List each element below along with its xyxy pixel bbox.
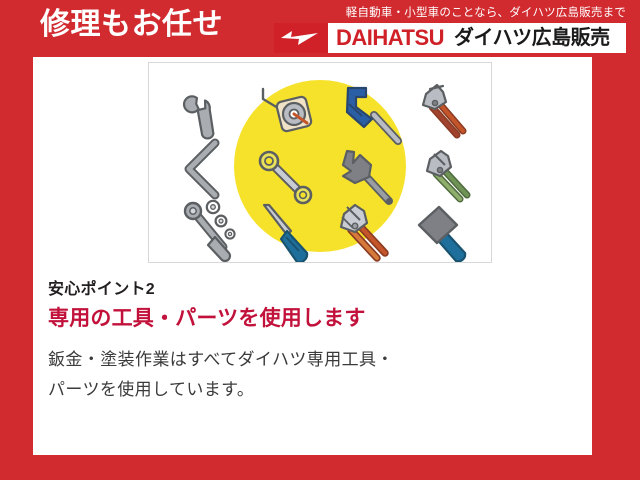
text-block: 安心ポイント2 専用の工具・パーツを使用します 鈑金・塗装作業はすべてダイハツ専… xyxy=(48,279,568,405)
brand-tagline: 軽自動車・小型車のことなら、ダイハツ広島販売まで xyxy=(274,5,626,22)
content-card: 安心ポイント2 専用の工具・パーツを使用します 鈑金・塗装作業はすべてダイハツ専… xyxy=(33,57,592,455)
socket-wrench-icon xyxy=(185,201,235,261)
brand-bar: DAIHATSU ダイハツ広島販売 xyxy=(274,23,626,53)
hex-allen-key-icon xyxy=(189,143,215,195)
page-title: 修理もお任せ xyxy=(40,6,223,44)
diagonal-pliers-icon xyxy=(427,151,467,199)
slip-joint-pliers-icon xyxy=(423,85,463,135)
body-text: 鈑金・塗装作業はすべてダイハツ専用工具・パーツを使用しています。 xyxy=(48,345,408,405)
brand-name-kana: ダイハツ広島販売 xyxy=(444,23,610,53)
open-end-wrench-icon xyxy=(174,91,227,141)
mallet-hammer-icon xyxy=(419,207,465,261)
yellow-circle-backdrop xyxy=(234,80,406,252)
daihatsu-d-mark-icon xyxy=(274,23,328,53)
header-band: 修理もお任せ 軽自動車・小型車のことなら、ダイハツ広島販売まで DAIHATSU… xyxy=(0,0,640,56)
illustration-frame xyxy=(148,62,492,263)
brand-logo-lockup: 軽自動車・小型車のことなら、ダイハツ広島販売まで DAIHATSU ダイハツ広島… xyxy=(274,5,626,53)
point-label: 安心ポイント2 xyxy=(48,279,568,301)
slide-root: 修理もお任せ 軽自動車・小型車のことなら、ダイハツ広島販売まで DAIHATSU… xyxy=(0,0,640,480)
tools-illustration xyxy=(149,63,491,262)
headline-text: 専用の工具・パーツを使用します xyxy=(48,307,398,331)
brand-name-latin: DAIHATSU xyxy=(328,23,444,53)
